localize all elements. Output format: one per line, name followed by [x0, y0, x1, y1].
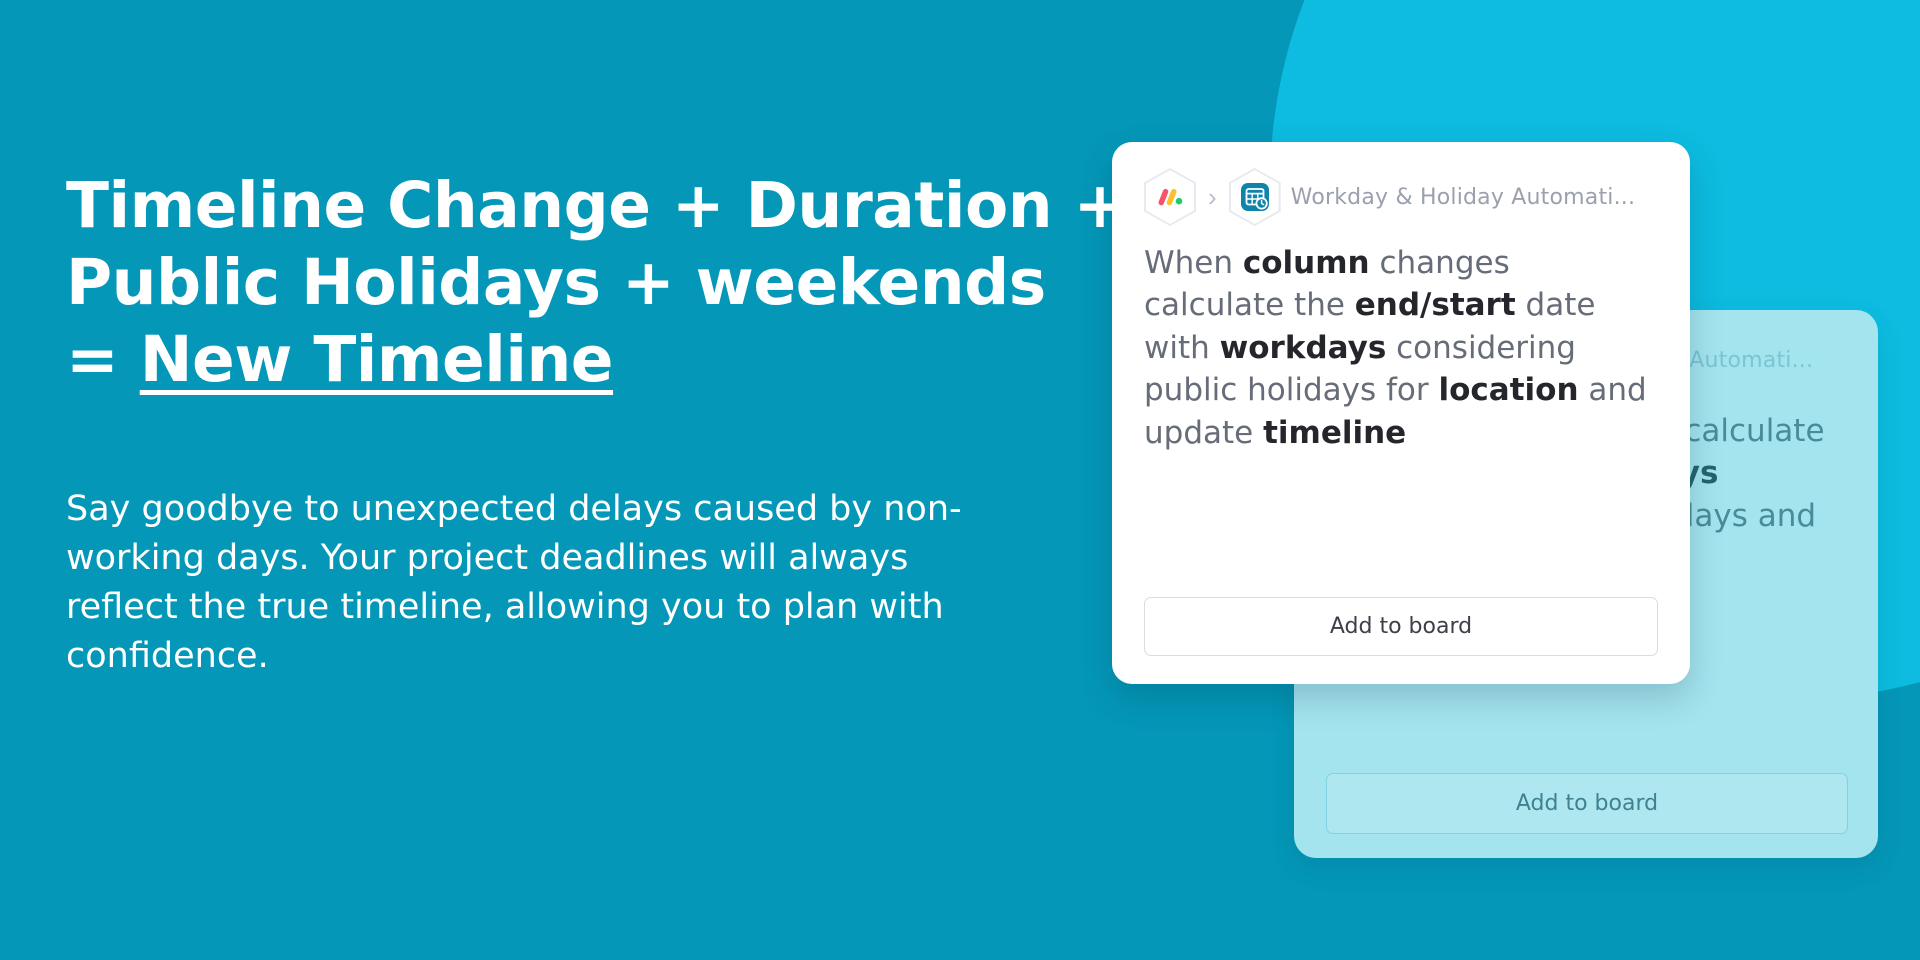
- headline-emphasis: New Timeline: [140, 323, 613, 396]
- calendar-clock-icon: [1229, 168, 1281, 226]
- monday-logo-icon: [1144, 168, 1196, 226]
- add-to-board-button-back[interactable]: Add to board: [1326, 773, 1848, 834]
- card-front-header: › Workday & Holiday Automati...: [1144, 168, 1658, 226]
- cf-token-endstart[interactable]: end/start: [1355, 287, 1516, 323]
- headline-line-3: = New Timeline: [66, 322, 1096, 399]
- card-front-title: Workday & Holiday Automati...: [1291, 185, 1636, 210]
- card-front-inner: › Workday & Holiday Automati...: [1112, 142, 1690, 684]
- headline-line-1: Timeline Change + Duration +: [66, 168, 1096, 245]
- cf-token-column[interactable]: column: [1243, 245, 1370, 281]
- page-title: Timeline Change + Duration + Public Holi…: [66, 168, 1096, 399]
- promo-banner: Timeline Change + Duration + Public Holi…: [0, 0, 1920, 960]
- card-front-recipe-text: When column changes calculate the end/st…: [1144, 242, 1658, 597]
- headline-line-2: Public Holidays + weekends: [66, 245, 1096, 322]
- cf-token-workdays[interactable]: workdays: [1220, 330, 1387, 366]
- add-to-board-button-front[interactable]: Add to board: [1144, 597, 1658, 656]
- hero-subcopy: Say goodbye to unexpected delays caused …: [66, 399, 1026, 681]
- hero-copy: Timeline Change + Duration + Public Holi…: [66, 168, 1096, 681]
- cf-seg-1: When: [1144, 245, 1243, 281]
- chevron-right-icon: ›: [1206, 184, 1219, 210]
- cf-token-timeline[interactable]: timeline: [1263, 415, 1406, 451]
- headline-equals: =: [66, 323, 140, 396]
- automation-recipe-card-front[interactable]: › Workday & Holiday Automati...: [1112, 142, 1690, 684]
- cf-token-location[interactable]: location: [1438, 372, 1578, 408]
